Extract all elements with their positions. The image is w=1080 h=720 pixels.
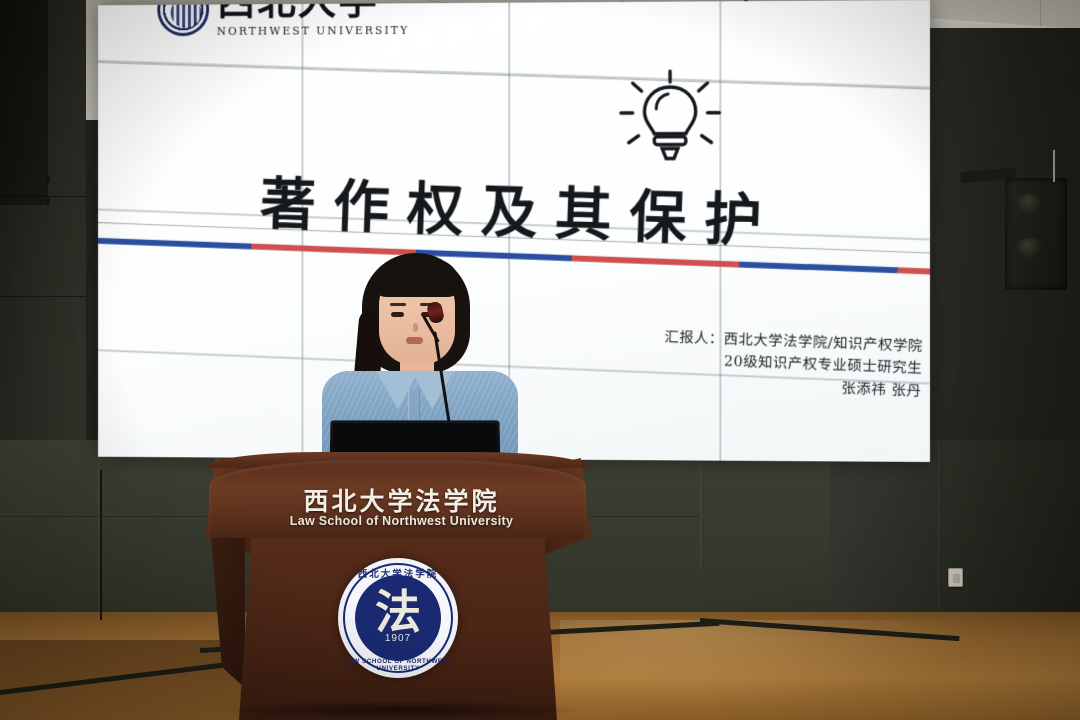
podium-name-cn: 西北大学法学院	[209, 482, 594, 518]
right-lower-wall	[830, 440, 1080, 640]
university-logo: 西北大学 NORTHWEST UNIVERSITY	[157, 0, 447, 44]
podium-side-left	[211, 538, 245, 688]
left-wall	[0, 0, 86, 470]
lecture-hall-photo: 西北大学 NORTHWEST UNIVERSITY	[0, 0, 1080, 720]
university-name-en: NORTHWEST UNIVERSITY	[217, 24, 410, 38]
university-seal-icon	[157, 0, 209, 36]
emblem-character: 法	[375, 589, 421, 635]
eye-left	[391, 312, 404, 317]
lightbulb-icon	[611, 69, 729, 169]
left-wall-panel	[0, 0, 48, 205]
wall-speaker	[1005, 178, 1067, 290]
mouth	[406, 337, 423, 344]
wall-outlet[interactable]	[948, 568, 963, 587]
podium: 西北大学法学院 Law School of Northwest Universi…	[205, 452, 590, 720]
speaker-wire	[1053, 150, 1055, 182]
nose	[413, 323, 418, 332]
power-cable	[100, 470, 102, 620]
emblem-year: 1907	[385, 633, 411, 644]
hair-fringe	[374, 259, 460, 297]
podium-front-panel: 西北大学法学院 Law School of Northwest Universi…	[209, 460, 586, 540]
law-school-emblem: 西北大学法学院 法 1907 LAW SCHOOL OF NORTHWEST U…	[338, 558, 458, 678]
emblem-center-disc: 法 1907	[355, 575, 441, 661]
podium-name-en: Law School of Northwest University	[209, 514, 594, 528]
podium-shadow	[215, 700, 585, 720]
eyebrow-left	[390, 303, 406, 306]
emblem-text-en: LAW SCHOOL OF NORTHWEST UNIVERSITY	[338, 658, 458, 672]
